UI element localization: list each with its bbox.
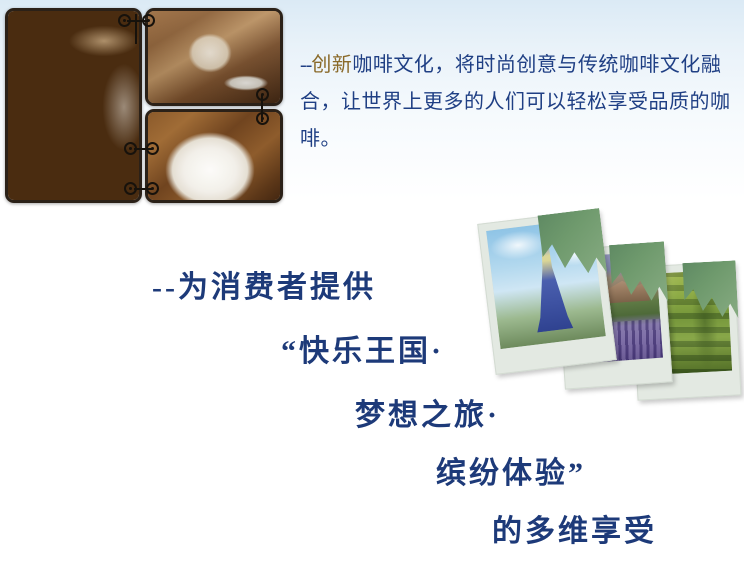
photo-frame-coffee-pouring-into-cup [5,8,142,203]
intro-paragraph: --创新咖啡文化，将时尚创意与传统咖啡文化融合，让世界上更多的人们可以轻松享受品… [300,47,732,158]
polaroid-photo-stack [484,206,742,398]
hinge-bar-top-vertical [135,14,137,44]
hinge-spiral-icon-right-lower [256,112,269,125]
coffee-collage [5,8,283,203]
slide-canvas: --创新咖啡文化，将时尚创意与传统咖啡文化融合，让世界上更多的人们可以轻松享受品… [0,0,744,588]
hinge-spiral-icon-mid-left [124,142,137,155]
blue-statue-sky-image [486,218,606,349]
latte-art-flower-image [148,112,280,200]
paragraph-body-text: 咖啡文化，将时尚创意与传统咖啡文化融合，让世界上更多的人们可以轻松享受品质的咖啡… [300,54,731,150]
hinge-spiral-icon-bottom-right [146,182,159,195]
hinge-spiral-icon-bottom-left [124,182,137,195]
hinge-spiral-icon-right-upper [256,88,269,101]
paragraph-dash: -- [300,54,311,76]
polaroid-inner-blue-statue-sky [486,218,606,349]
slogan-line-2: “快乐王国· [281,326,444,370]
hinge-spiral-icon-top-left [118,14,131,27]
slogan-line-5: 的多维享受 [492,506,657,550]
slogan-line-1: --为消费者提供 [152,262,376,306]
polaroid-blue-statue-sky [477,209,617,375]
paragraph-accent-text: 创新 [311,54,352,76]
hinge-spiral-icon-mid-right [146,142,159,155]
hinge-spiral-icon-top-right [142,14,155,27]
slogan-line-4: 缤纷体验” [436,448,586,492]
slogan-line-3: 梦想之旅· [355,390,500,434]
coffee-pouring-into-cup-image [8,11,139,200]
